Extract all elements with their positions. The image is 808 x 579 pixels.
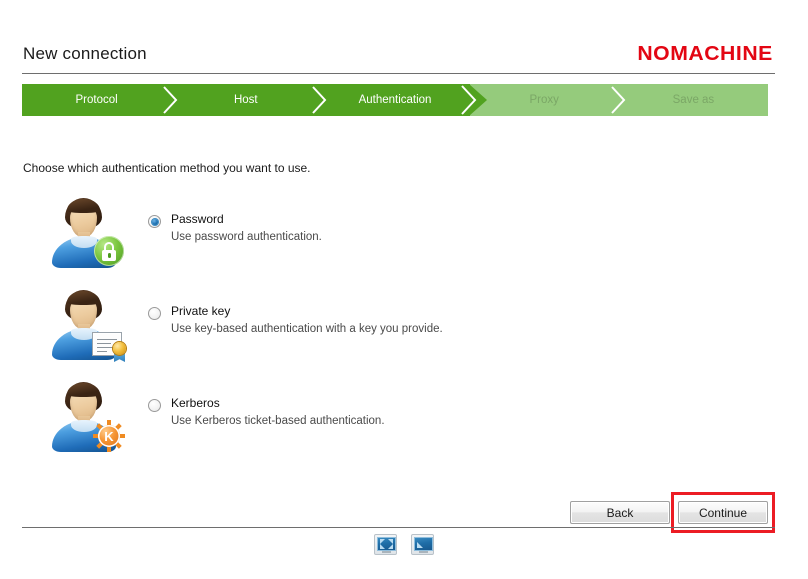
kerberos-gear-badge-icon: K bbox=[93, 420, 125, 452]
option-description: Use password authentication. bbox=[171, 231, 322, 243]
restore-window-icon[interactable] bbox=[411, 534, 434, 555]
option-title: Kerberos bbox=[171, 396, 220, 410]
page-title: New connection bbox=[23, 44, 147, 64]
option-row-kerberos[interactable]: K Kerberos Use Kerberos ticket-based aut… bbox=[0, 376, 808, 468]
radio-private-key[interactable] bbox=[148, 307, 161, 320]
wizard-step-host[interactable]: Host bbox=[171, 84, 320, 116]
wizard-step-proxy[interactable]: Proxy bbox=[470, 84, 619, 116]
window-header: New connection NOMACHINE bbox=[0, 0, 808, 76]
option-description: Use Kerberos ticket-based authentication… bbox=[171, 415, 385, 427]
wizard-step-authentication[interactable]: Authentication bbox=[320, 84, 469, 116]
footer-icon-bar bbox=[0, 534, 808, 555]
user-kerberos-gear-icon: K bbox=[44, 380, 124, 452]
wizard-step-save-as[interactable]: Save as bbox=[619, 84, 768, 116]
option-title: Password bbox=[171, 212, 224, 226]
collapse-arrow-glyph bbox=[414, 537, 433, 551]
wizard-step-label: Host bbox=[234, 94, 258, 106]
option-row-private-key[interactable]: Private key Use key-based authentication… bbox=[0, 284, 808, 376]
wizard-step-label: Save as bbox=[673, 94, 715, 106]
wizard-step-label: Protocol bbox=[76, 94, 118, 106]
fullscreen-icon[interactable] bbox=[374, 534, 397, 555]
nomachine-logo: NOMACHINE bbox=[637, 43, 773, 66]
wizard-step-label: Authentication bbox=[359, 94, 432, 106]
instruction-text: Choose which authentication method you w… bbox=[23, 161, 311, 175]
option-title: Private key bbox=[171, 304, 230, 318]
radio-password[interactable] bbox=[148, 215, 161, 228]
expand-arrows-glyph bbox=[377, 537, 396, 551]
authentication-options-list: Password Use password authentication. bbox=[0, 192, 808, 468]
radio-kerberos[interactable] bbox=[148, 399, 161, 412]
option-description: Use key-based authentication with a key … bbox=[171, 323, 443, 335]
lock-badge-icon bbox=[94, 236, 124, 266]
wizard-step-protocol[interactable]: Protocol bbox=[22, 84, 171, 116]
wizard-breadcrumb: Protocol Host Authentication Proxy Save … bbox=[22, 84, 768, 116]
certificate-badge-icon bbox=[92, 332, 126, 360]
footer-divider bbox=[22, 527, 775, 528]
wizard-step-label: Proxy bbox=[530, 94, 559, 106]
back-button[interactable]: Back bbox=[570, 501, 670, 524]
option-row-password[interactable]: Password Use password authentication. bbox=[0, 192, 808, 284]
user-lock-icon bbox=[44, 196, 124, 268]
header-divider bbox=[22, 73, 775, 74]
user-certificate-icon bbox=[44, 288, 124, 360]
